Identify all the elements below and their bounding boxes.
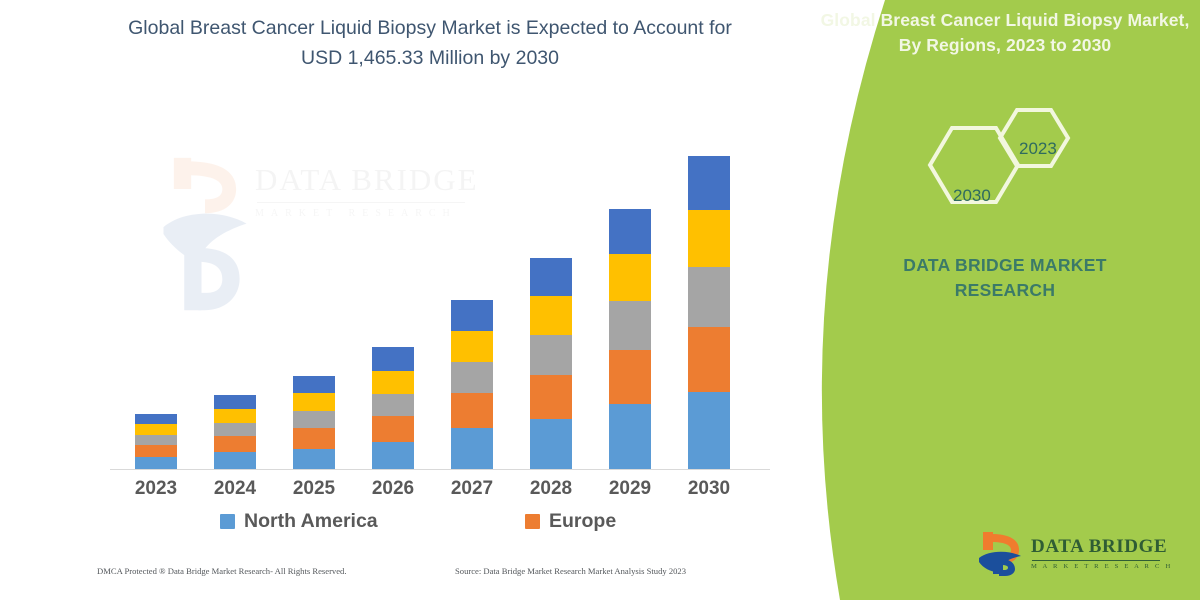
bar-segment <box>688 210 730 267</box>
x-axis-label-2030: 2030 <box>679 478 739 500</box>
hexagon-shapes <box>900 108 1190 218</box>
bar-segment <box>293 376 335 394</box>
stacked-bar-chart <box>100 120 780 470</box>
logo-text-block: DATA BRIDGE M A R K E T R E S E A R C H <box>1031 536 1172 570</box>
bar-segment <box>530 375 572 419</box>
x-axis-label-2024: 2024 <box>205 478 265 500</box>
bar-2027 <box>451 300 493 469</box>
bar-segment <box>135 424 177 435</box>
bar-segment <box>530 296 572 335</box>
chart-x-axis-labels: 20232024202520262027202820292030 <box>100 478 780 506</box>
bar-2029 <box>609 209 651 469</box>
hexagon-group: 2030 2023 <box>900 108 1190 218</box>
bar-segment <box>372 416 414 442</box>
bar-segment <box>293 411 335 428</box>
bar-2024 <box>214 395 256 469</box>
bar-2030 <box>688 156 730 469</box>
bar-segment <box>372 371 414 395</box>
bar-segment <box>451 428 493 469</box>
legend-item-europe[interactable]: Europe <box>525 510 616 533</box>
legend-label: Europe <box>549 510 616 533</box>
page-title: Global Breast Cancer Liquid Biopsy Marke… <box>120 14 740 73</box>
hexagon-2030-label: 2030 <box>953 186 991 206</box>
x-axis-label-2029: 2029 <box>600 478 660 500</box>
panel-brand-line-1: DATA BRIDGE MARKET <box>820 253 1190 278</box>
x-axis-label-2023: 2023 <box>126 478 186 500</box>
bar-segment <box>609 254 651 301</box>
bar-segment <box>293 393 335 411</box>
x-axis-label-2025: 2025 <box>284 478 344 500</box>
bar-segment <box>214 423 256 436</box>
bar-segment <box>451 393 493 428</box>
bar-segment <box>609 350 651 404</box>
bar-segment <box>451 331 493 362</box>
bar-2026 <box>372 347 414 469</box>
bar-segment <box>688 156 730 210</box>
bar-segment <box>530 419 572 469</box>
legend-item-north-america[interactable]: North America <box>220 510 378 533</box>
bar-2023 <box>135 414 177 469</box>
chart-legend: North AmericaEurope <box>100 510 780 542</box>
hexagon-2023-label: 2023 <box>1019 139 1057 159</box>
bar-segment <box>135 414 177 425</box>
bar-segment <box>609 404 651 469</box>
logo-name: DATA BRIDGE <box>1031 536 1172 558</box>
bar-segment <box>451 362 493 394</box>
panel-brand-line-2: RESEARCH <box>820 278 1190 303</box>
logo-mark-icon <box>975 528 1027 580</box>
bar-segment <box>530 258 572 296</box>
bar-segment <box>135 457 177 469</box>
logo-subtitle: M A R K E T R E S E A R C H <box>1031 563 1172 570</box>
bar-2028 <box>530 258 572 469</box>
bar-segment <box>530 335 572 375</box>
infographic-canvas: Global Breast Cancer Liquid Biopsy Marke… <box>0 0 1200 600</box>
bar-segment <box>609 209 651 254</box>
bar-segment <box>293 449 335 469</box>
bar-segment <box>293 428 335 448</box>
bar-segment <box>214 452 256 469</box>
bar-segment <box>451 300 493 331</box>
bar-2025 <box>293 376 335 469</box>
bar-segment <box>372 347 414 371</box>
bar-segment <box>688 327 730 392</box>
legend-swatch-icon <box>525 514 540 529</box>
logo-divider <box>1032 560 1160 561</box>
x-axis-label-2026: 2026 <box>363 478 423 500</box>
panel-title: Global Breast Cancer Liquid Biopsy Marke… <box>820 8 1190 58</box>
right-green-panel: Global Breast Cancer Liquid Biopsy Marke… <box>780 0 1200 600</box>
data-bridge-logo: DATA BRIDGE M A R K E T R E S E A R C H <box>975 528 1185 584</box>
chart-baseline-axis <box>110 469 770 470</box>
legend-label: North America <box>244 510 378 533</box>
bar-segment <box>372 394 414 416</box>
x-axis-label-2027: 2027 <box>442 478 502 500</box>
bar-segment <box>688 267 730 327</box>
x-axis-label-2028: 2028 <box>521 478 581 500</box>
footer-copyright: DMCA Protected ® Data Bridge Market Rese… <box>97 566 347 576</box>
bar-segment <box>609 301 651 351</box>
bar-segment <box>135 445 177 456</box>
bar-segment <box>135 435 177 446</box>
bar-segment <box>214 409 256 423</box>
footer: DMCA Protected ® Data Bridge Market Rese… <box>0 566 780 588</box>
bar-segment <box>688 392 730 469</box>
legend-swatch-icon <box>220 514 235 529</box>
bar-segment <box>214 436 256 452</box>
bar-segment <box>372 442 414 469</box>
bar-segment <box>214 395 256 409</box>
footer-source: Source: Data Bridge Market Research Mark… <box>455 566 686 576</box>
